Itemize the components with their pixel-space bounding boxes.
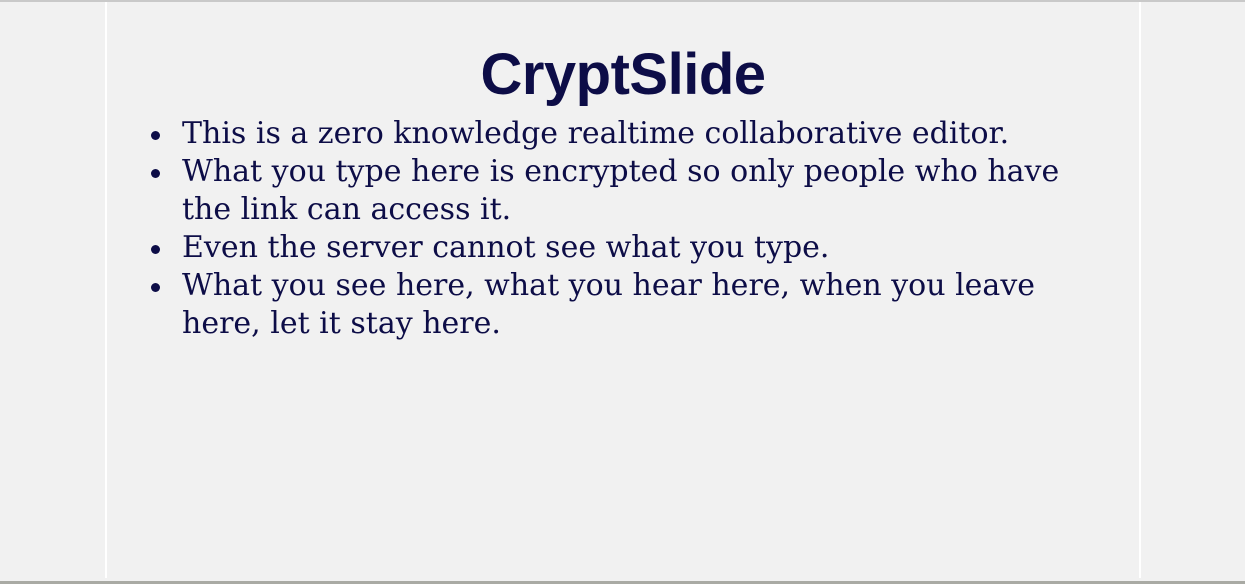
bullet-dot-icon — [151, 169, 160, 178]
slide-canvas[interactable]: CryptSlide This is a zero knowledge real… — [105, 2, 1141, 578]
list-item[interactable]: What you see here, what you hear here, w… — [147, 267, 1097, 343]
list-item[interactable]: This is a zero knowledge realtime collab… — [147, 115, 1097, 153]
bullet-text[interactable]: What you type here is encrypted so only … — [182, 153, 1097, 229]
slide-title[interactable]: CryptSlide — [107, 42, 1139, 108]
list-item[interactable]: What you type here is encrypted so only … — [147, 153, 1097, 229]
slide-editor-viewport: CryptSlide This is a zero knowledge real… — [0, 0, 1245, 584]
bullet-dot-icon — [151, 245, 160, 254]
bullet-text[interactable]: What you see here, what you hear here, w… — [182, 267, 1097, 343]
bullet-dot-icon — [151, 283, 160, 292]
bullet-dot-icon — [151, 131, 160, 140]
bullet-text[interactable]: This is a zero knowledge realtime collab… — [182, 115, 1097, 153]
list-item[interactable]: Even the server cannot see what you type… — [147, 229, 1097, 267]
bullet-text[interactable]: Even the server cannot see what you type… — [182, 229, 1097, 267]
slide-bullet-list[interactable]: This is a zero knowledge realtime collab… — [147, 115, 1097, 343]
